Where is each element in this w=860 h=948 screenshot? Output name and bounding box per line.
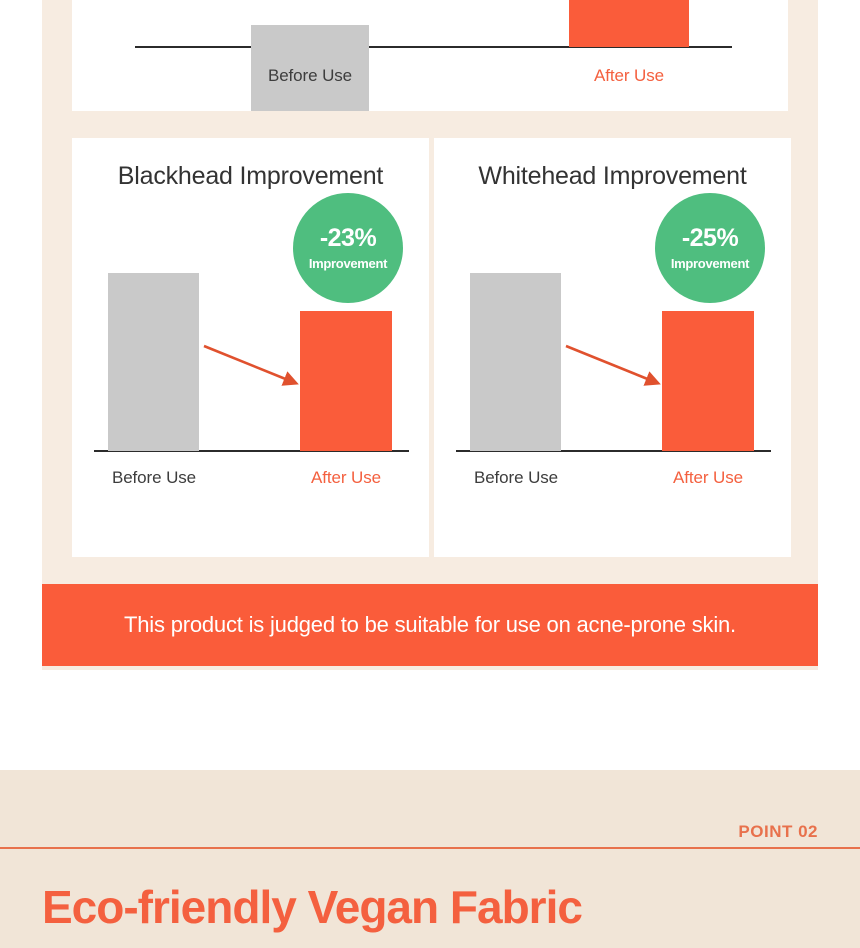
bar-plot-blackhead: -23% Improvement Before Use After Use <box>72 138 429 557</box>
badge-percent-value: -25% <box>682 226 738 251</box>
point-02-section: POINT 02 Eco-friendly Vegan Fabric <box>0 770 860 948</box>
badge-sublabel: Improvement <box>309 257 387 270</box>
point-eyebrow-label: POINT 02 <box>738 822 818 842</box>
bar-before-use <box>470 273 561 451</box>
bar-label-before-use: Before Use <box>250 66 370 86</box>
bar-label-after-use: After Use <box>648 468 768 488</box>
point-heading: Eco-friendly Vegan Fabric <box>42 880 582 934</box>
badge-percent-value: -23% <box>320 226 376 251</box>
bar-after-use <box>662 311 754 451</box>
section-divider-rule <box>0 847 860 849</box>
bar-plot-whitehead: -25% Improvement Before Use After Use <box>434 138 791 557</box>
improvement-badge: -25% Improvement <box>655 193 765 303</box>
chart-card-cropped: Before Use After Use <box>72 0 788 111</box>
bar-after-use <box>300 311 392 451</box>
badge-sublabel: Improvement <box>671 257 749 270</box>
chart-card-whitehead: Whitehead Improvement -25% Improvement B… <box>434 138 791 557</box>
bar-label-after-use: After Use <box>569 66 689 86</box>
decline-arrow-icon <box>564 338 664 398</box>
bar-label-before-use: Before Use <box>456 468 576 488</box>
bar-label-after-use: After Use <box>286 468 406 488</box>
bar-plot-cropped: Before Use After Use <box>72 0 788 111</box>
chart-card-blackhead: Blackhead Improvement -23% Improvement <box>72 138 429 557</box>
bar-after-use <box>569 0 689 47</box>
bar-before-use <box>108 273 199 451</box>
bar-label-before-use: Before Use <box>94 468 214 488</box>
clinical-results-panel: Before Use After Use Blackhead Improveme… <box>42 0 818 670</box>
improvement-badge: -23% Improvement <box>293 193 403 303</box>
conclusion-banner: This product is judged to be suitable fo… <box>42 584 818 666</box>
conclusion-text: This product is judged to be suitable fo… <box>124 612 736 638</box>
decline-arrow-icon <box>202 338 302 398</box>
